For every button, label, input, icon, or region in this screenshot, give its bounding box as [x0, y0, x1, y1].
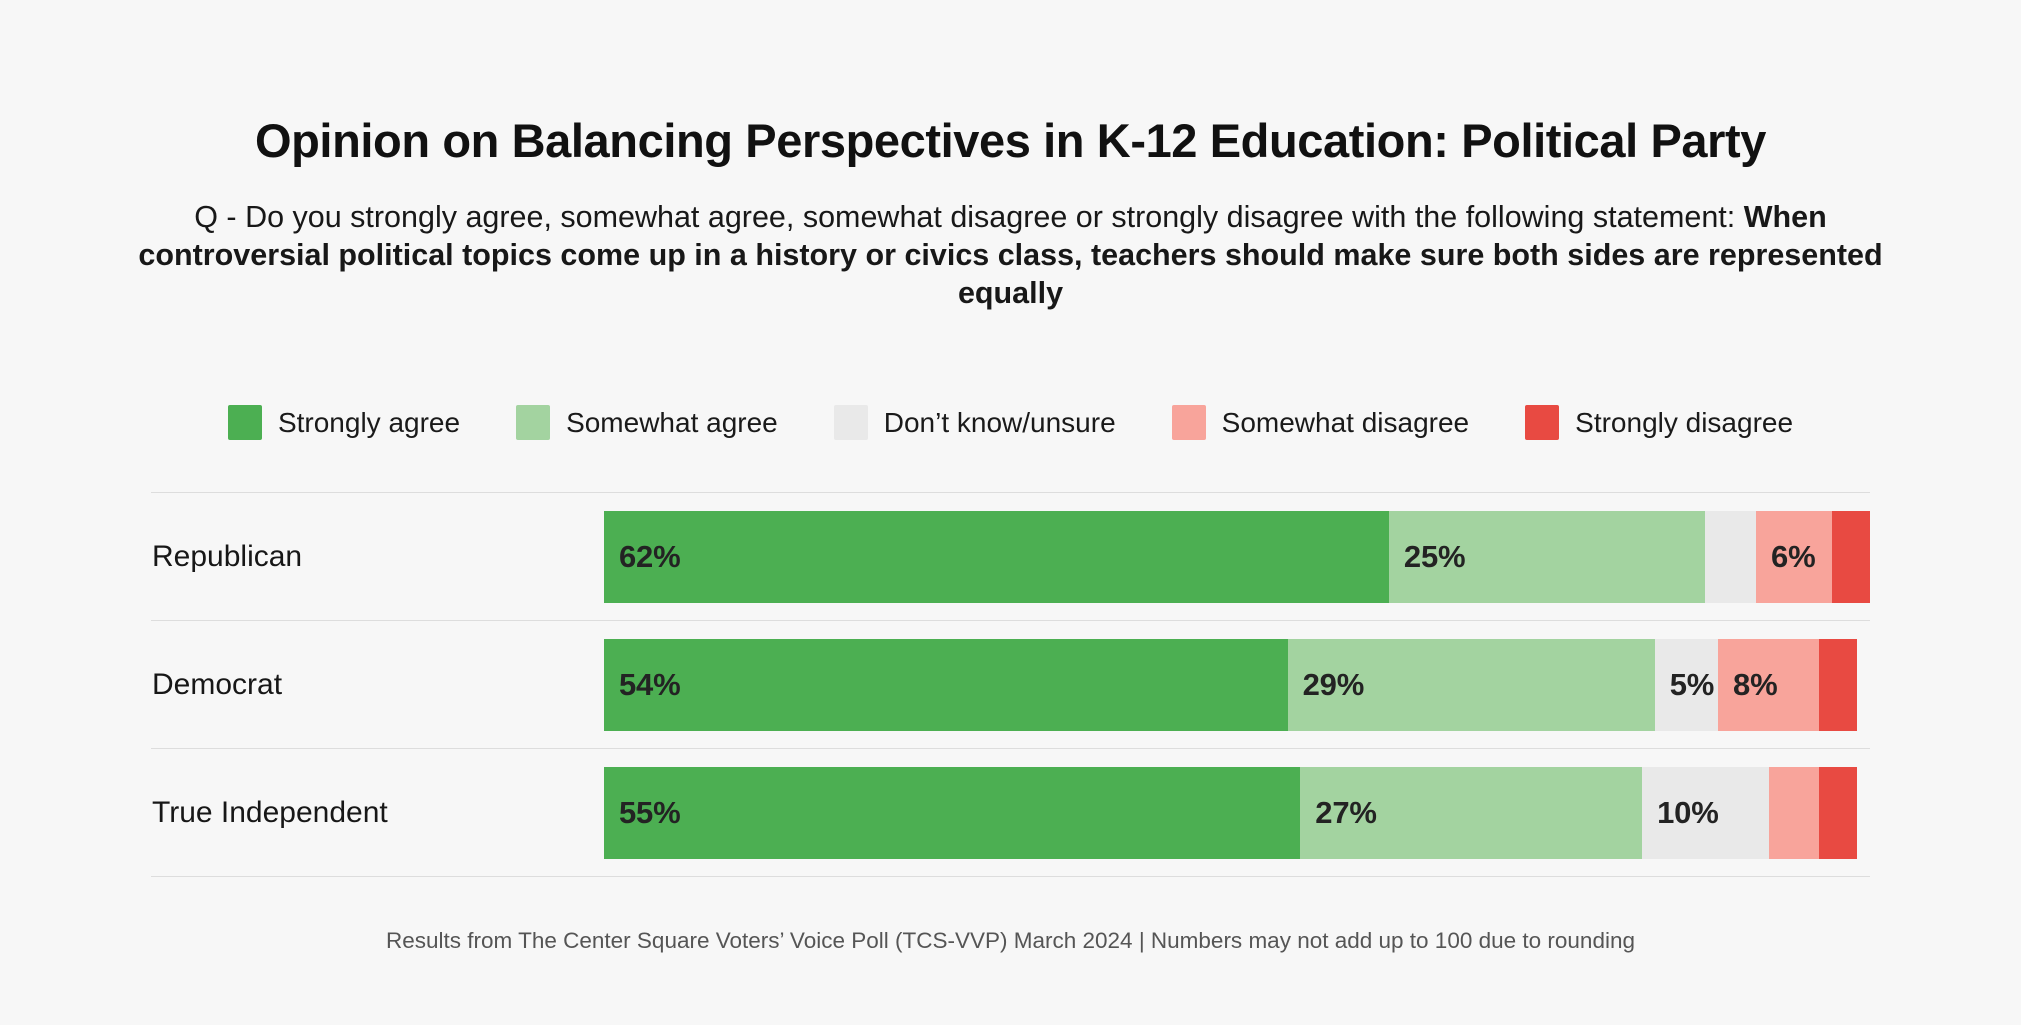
- bar-segment-value: 55%: [604, 795, 680, 831]
- chart-subtitle: Q - Do you strongly agree, somewhat agre…: [116, 198, 1906, 312]
- row-category-label: Democrat: [152, 668, 282, 702]
- row-category-label: Republican: [152, 540, 302, 574]
- bar-segment: 4%: [1769, 767, 1820, 859]
- stacked-bar: 55%27%10%4%3%: [604, 767, 1857, 859]
- stacked-bar: 54%29%5%8%3%: [604, 639, 1857, 731]
- bar-segment: 29%: [1288, 639, 1655, 731]
- bar-segment: 62%: [604, 511, 1389, 603]
- bar-segment: 8%: [1718, 639, 1819, 731]
- bar-segment: 27%: [1300, 767, 1642, 859]
- bar-segment: 5%: [1655, 639, 1718, 731]
- bar-segment: 3%: [1832, 511, 1870, 603]
- legend-label: Don’t know/unsure: [884, 407, 1116, 439]
- bar-segment-value: 25%: [1389, 539, 1465, 575]
- bar-segment-value: 10%: [1642, 795, 1718, 831]
- legend-label: Strongly disagree: [1575, 407, 1793, 439]
- row-category-label: True Independent: [152, 796, 388, 830]
- legend-label: Somewhat disagree: [1222, 407, 1469, 439]
- bar-segment-value: 62%: [604, 539, 680, 575]
- chart-footnote: Results from The Center Square Voters’ V…: [0, 928, 2021, 954]
- bar-segment-value: 5%: [1655, 667, 1714, 703]
- legend-swatch-icon: [834, 405, 868, 440]
- legend-item-somewhat-agree[interactable]: Somewhat agree: [516, 405, 778, 440]
- bar-segment: 4%: [1705, 511, 1756, 603]
- bar-segment: 54%: [604, 639, 1288, 731]
- bar-segment: 55%: [604, 767, 1300, 859]
- legend-item-strongly-agree[interactable]: Strongly agree: [228, 405, 460, 440]
- bar-segment-value: 27%: [1300, 795, 1376, 831]
- bar-segment: 3%: [1819, 767, 1857, 859]
- bar-segment-value: 54%: [604, 667, 680, 703]
- bar-segment-value: 6%: [1756, 539, 1815, 575]
- legend-item-somewhat-disagree[interactable]: Somewhat disagree: [1172, 405, 1469, 440]
- table-row: True Independent 55%27%10%4%3%: [151, 749, 1870, 876]
- legend-swatch-icon: [228, 405, 262, 440]
- legend-item-dont-know-unsure[interactable]: Don’t know/unsure: [834, 405, 1116, 440]
- chart-title: Opinion on Balancing Perspectives in K-1…: [0, 116, 2021, 165]
- table-row: Democrat 54%29%5%8%3%: [151, 621, 1870, 748]
- stacked-bar: 62%25%4%6%3%: [604, 511, 1870, 603]
- legend-label: Somewhat agree: [566, 407, 778, 439]
- legend-swatch-icon: [1525, 405, 1559, 440]
- legend-swatch-icon: [1172, 405, 1206, 440]
- chart-legend: Strongly agree Somewhat agree Don’t know…: [151, 405, 1870, 440]
- chart-canvas: Opinion on Balancing Perspectives in K-1…: [0, 0, 2021, 1025]
- legend-item-strongly-disagree[interactable]: Strongly disagree: [1525, 405, 1793, 440]
- row-divider: [151, 876, 1870, 877]
- legend-label: Strongly agree: [278, 407, 460, 439]
- bar-segment-value: 29%: [1288, 667, 1364, 703]
- bar-segment: 6%: [1756, 511, 1832, 603]
- bar-segment: 10%: [1642, 767, 1769, 859]
- table-row: Republican 62%25%4%6%3%: [151, 493, 1870, 620]
- bar-segment-value: 8%: [1718, 667, 1777, 703]
- legend-swatch-icon: [516, 405, 550, 440]
- bar-segment: 3%: [1819, 639, 1857, 731]
- chart-plot-area: Republican 62%25%4%6%3% Democrat 54%29%5…: [151, 492, 1870, 877]
- subtitle-question-lead: Q - Do you strongly agree, somewhat agre…: [194, 200, 1744, 234]
- bar-segment: 25%: [1389, 511, 1706, 603]
